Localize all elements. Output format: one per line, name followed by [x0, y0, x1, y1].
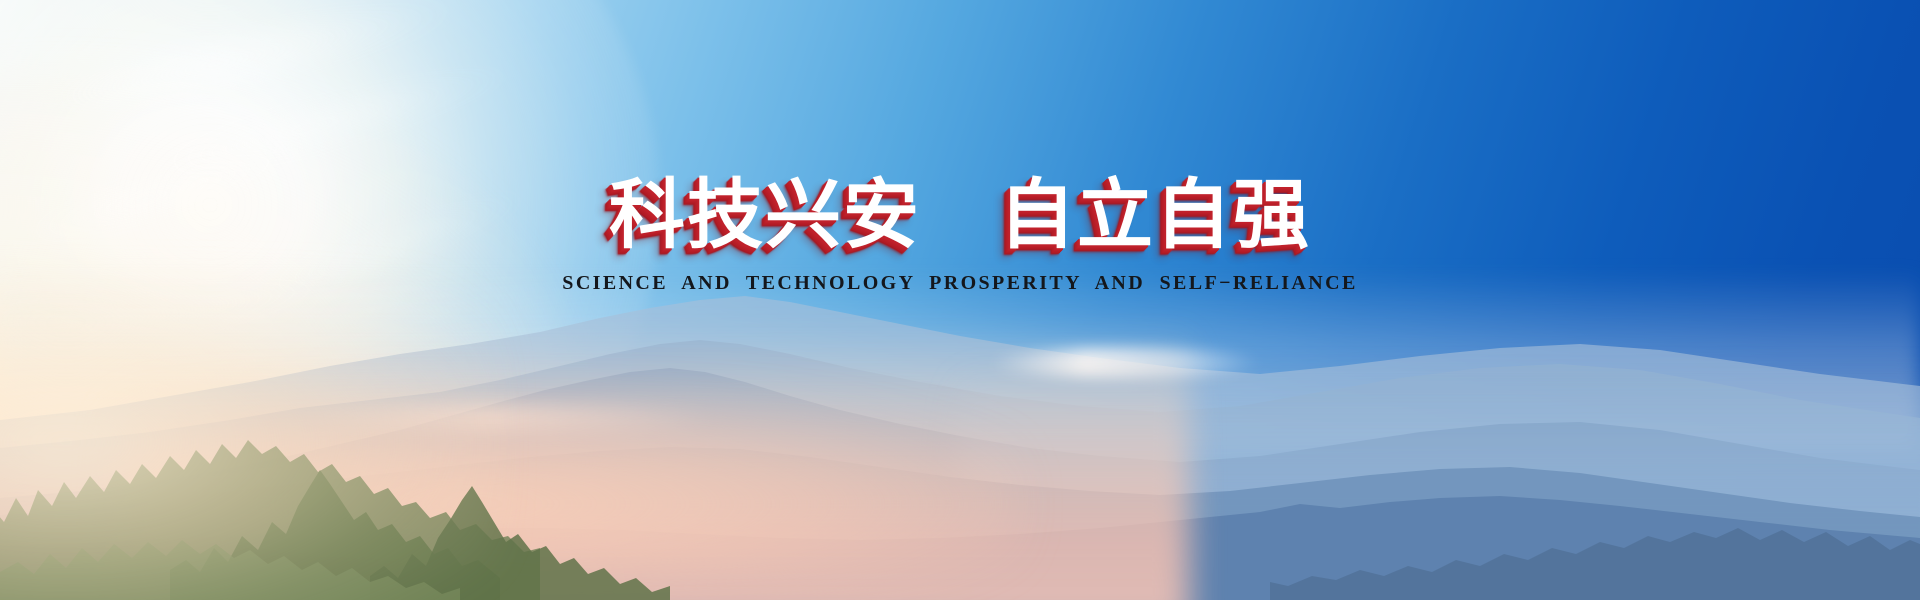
banner-text-block: 科技兴安 自立自强 SCIENCE AND TECHNOLOGY PROSPER…	[0, 176, 1920, 295]
foreground-trees-lower-left	[0, 498, 460, 600]
mountain-landscape	[0, 270, 1920, 600]
banner-headline: 科技兴安 自立自强	[609, 176, 1311, 254]
foreground-trees-right	[1270, 478, 1920, 600]
hero-banner: 科技兴安 自立自强 SCIENCE AND TECHNOLOGY PROSPER…	[0, 0, 1920, 600]
banner-subheadline: SCIENCE AND TECHNOLOGY PROSPERITY AND SE…	[0, 272, 1920, 295]
